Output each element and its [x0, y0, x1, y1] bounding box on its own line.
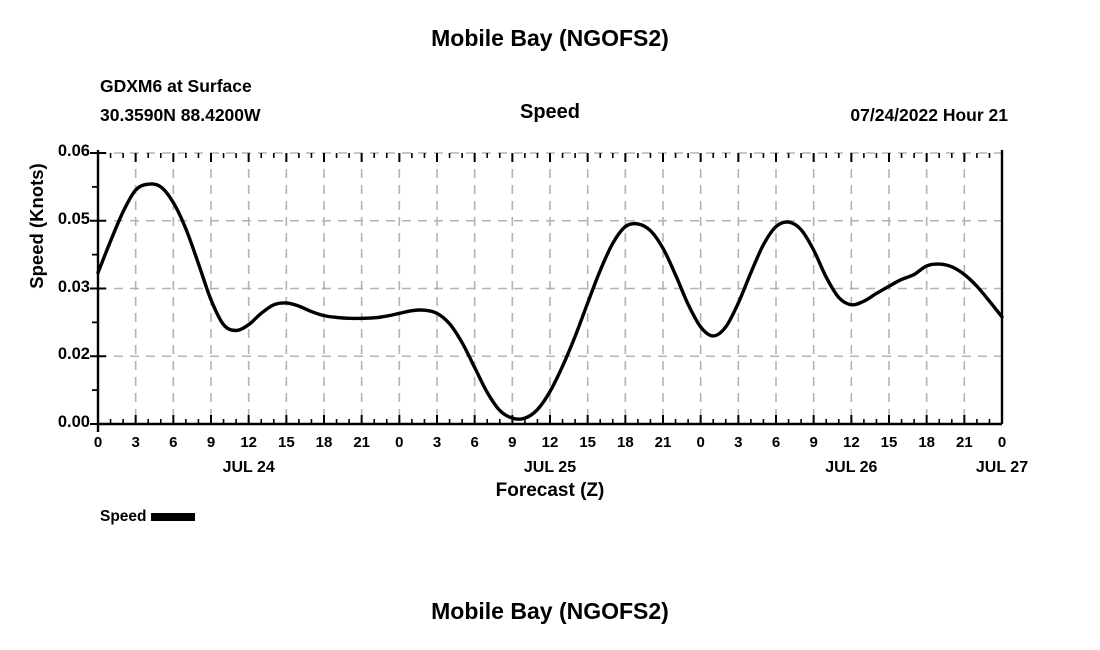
y-tick-label: 0.05: [32, 210, 90, 229]
x-axis-day-label: JUL 24: [189, 459, 309, 477]
x-tick-label: 0: [384, 434, 414, 451]
x-tick-label: 21: [949, 434, 979, 451]
x-axis-title: Forecast (Z): [0, 480, 1100, 502]
legend-label-speed: Speed: [100, 508, 147, 526]
x-axis-day-label: JUL 25: [490, 459, 610, 477]
x-tick-label: 9: [196, 434, 226, 451]
x-tick-label: 0: [686, 434, 716, 451]
bottom-title: Mobile Bay (NGOFS2): [0, 598, 1100, 625]
x-tick-label: 0: [83, 434, 113, 451]
x-tick-label: 18: [912, 434, 942, 451]
x-tick-label: 12: [836, 434, 866, 451]
x-tick-label: 3: [723, 434, 753, 451]
y-tick-label: 0.06: [32, 142, 90, 161]
x-tick-label: 3: [121, 434, 151, 451]
y-tick-label: 0.00: [32, 413, 90, 432]
y-tick-label: 0.03: [32, 278, 90, 297]
x-tick-label: 0: [987, 434, 1017, 451]
x-tick-label: 21: [347, 434, 377, 451]
y-tick-label: 0.02: [32, 345, 90, 364]
speed-line-chart: [0, 0, 1100, 650]
x-tick-label: 12: [535, 434, 565, 451]
x-tick-label: 15: [271, 434, 301, 451]
x-tick-label: 15: [874, 434, 904, 451]
x-tick-label: 18: [309, 434, 339, 451]
plot-area: [0, 0, 1100, 650]
x-tick-label: 3: [422, 434, 452, 451]
x-axis-day-label: JUL 26: [791, 459, 911, 477]
gridlines: [98, 153, 1002, 424]
chart-page: Mobile Bay (NGOFS2) GDXM6 at Surface 30.…: [0, 0, 1100, 650]
legend-swatch-speed: [151, 513, 195, 521]
x-tick-label: 9: [497, 434, 527, 451]
x-tick-label: 12: [234, 434, 264, 451]
x-tick-label: 21: [648, 434, 678, 451]
x-tick-label: 18: [610, 434, 640, 451]
x-tick-label: 9: [799, 434, 829, 451]
x-tick-label: 6: [158, 434, 188, 451]
chart-legend: Speed: [100, 508, 195, 526]
x-axis-day-label: JUL 27: [942, 459, 1062, 477]
x-tick-label: 15: [573, 434, 603, 451]
x-tick-label: 6: [460, 434, 490, 451]
x-tick-label: 6: [761, 434, 791, 451]
